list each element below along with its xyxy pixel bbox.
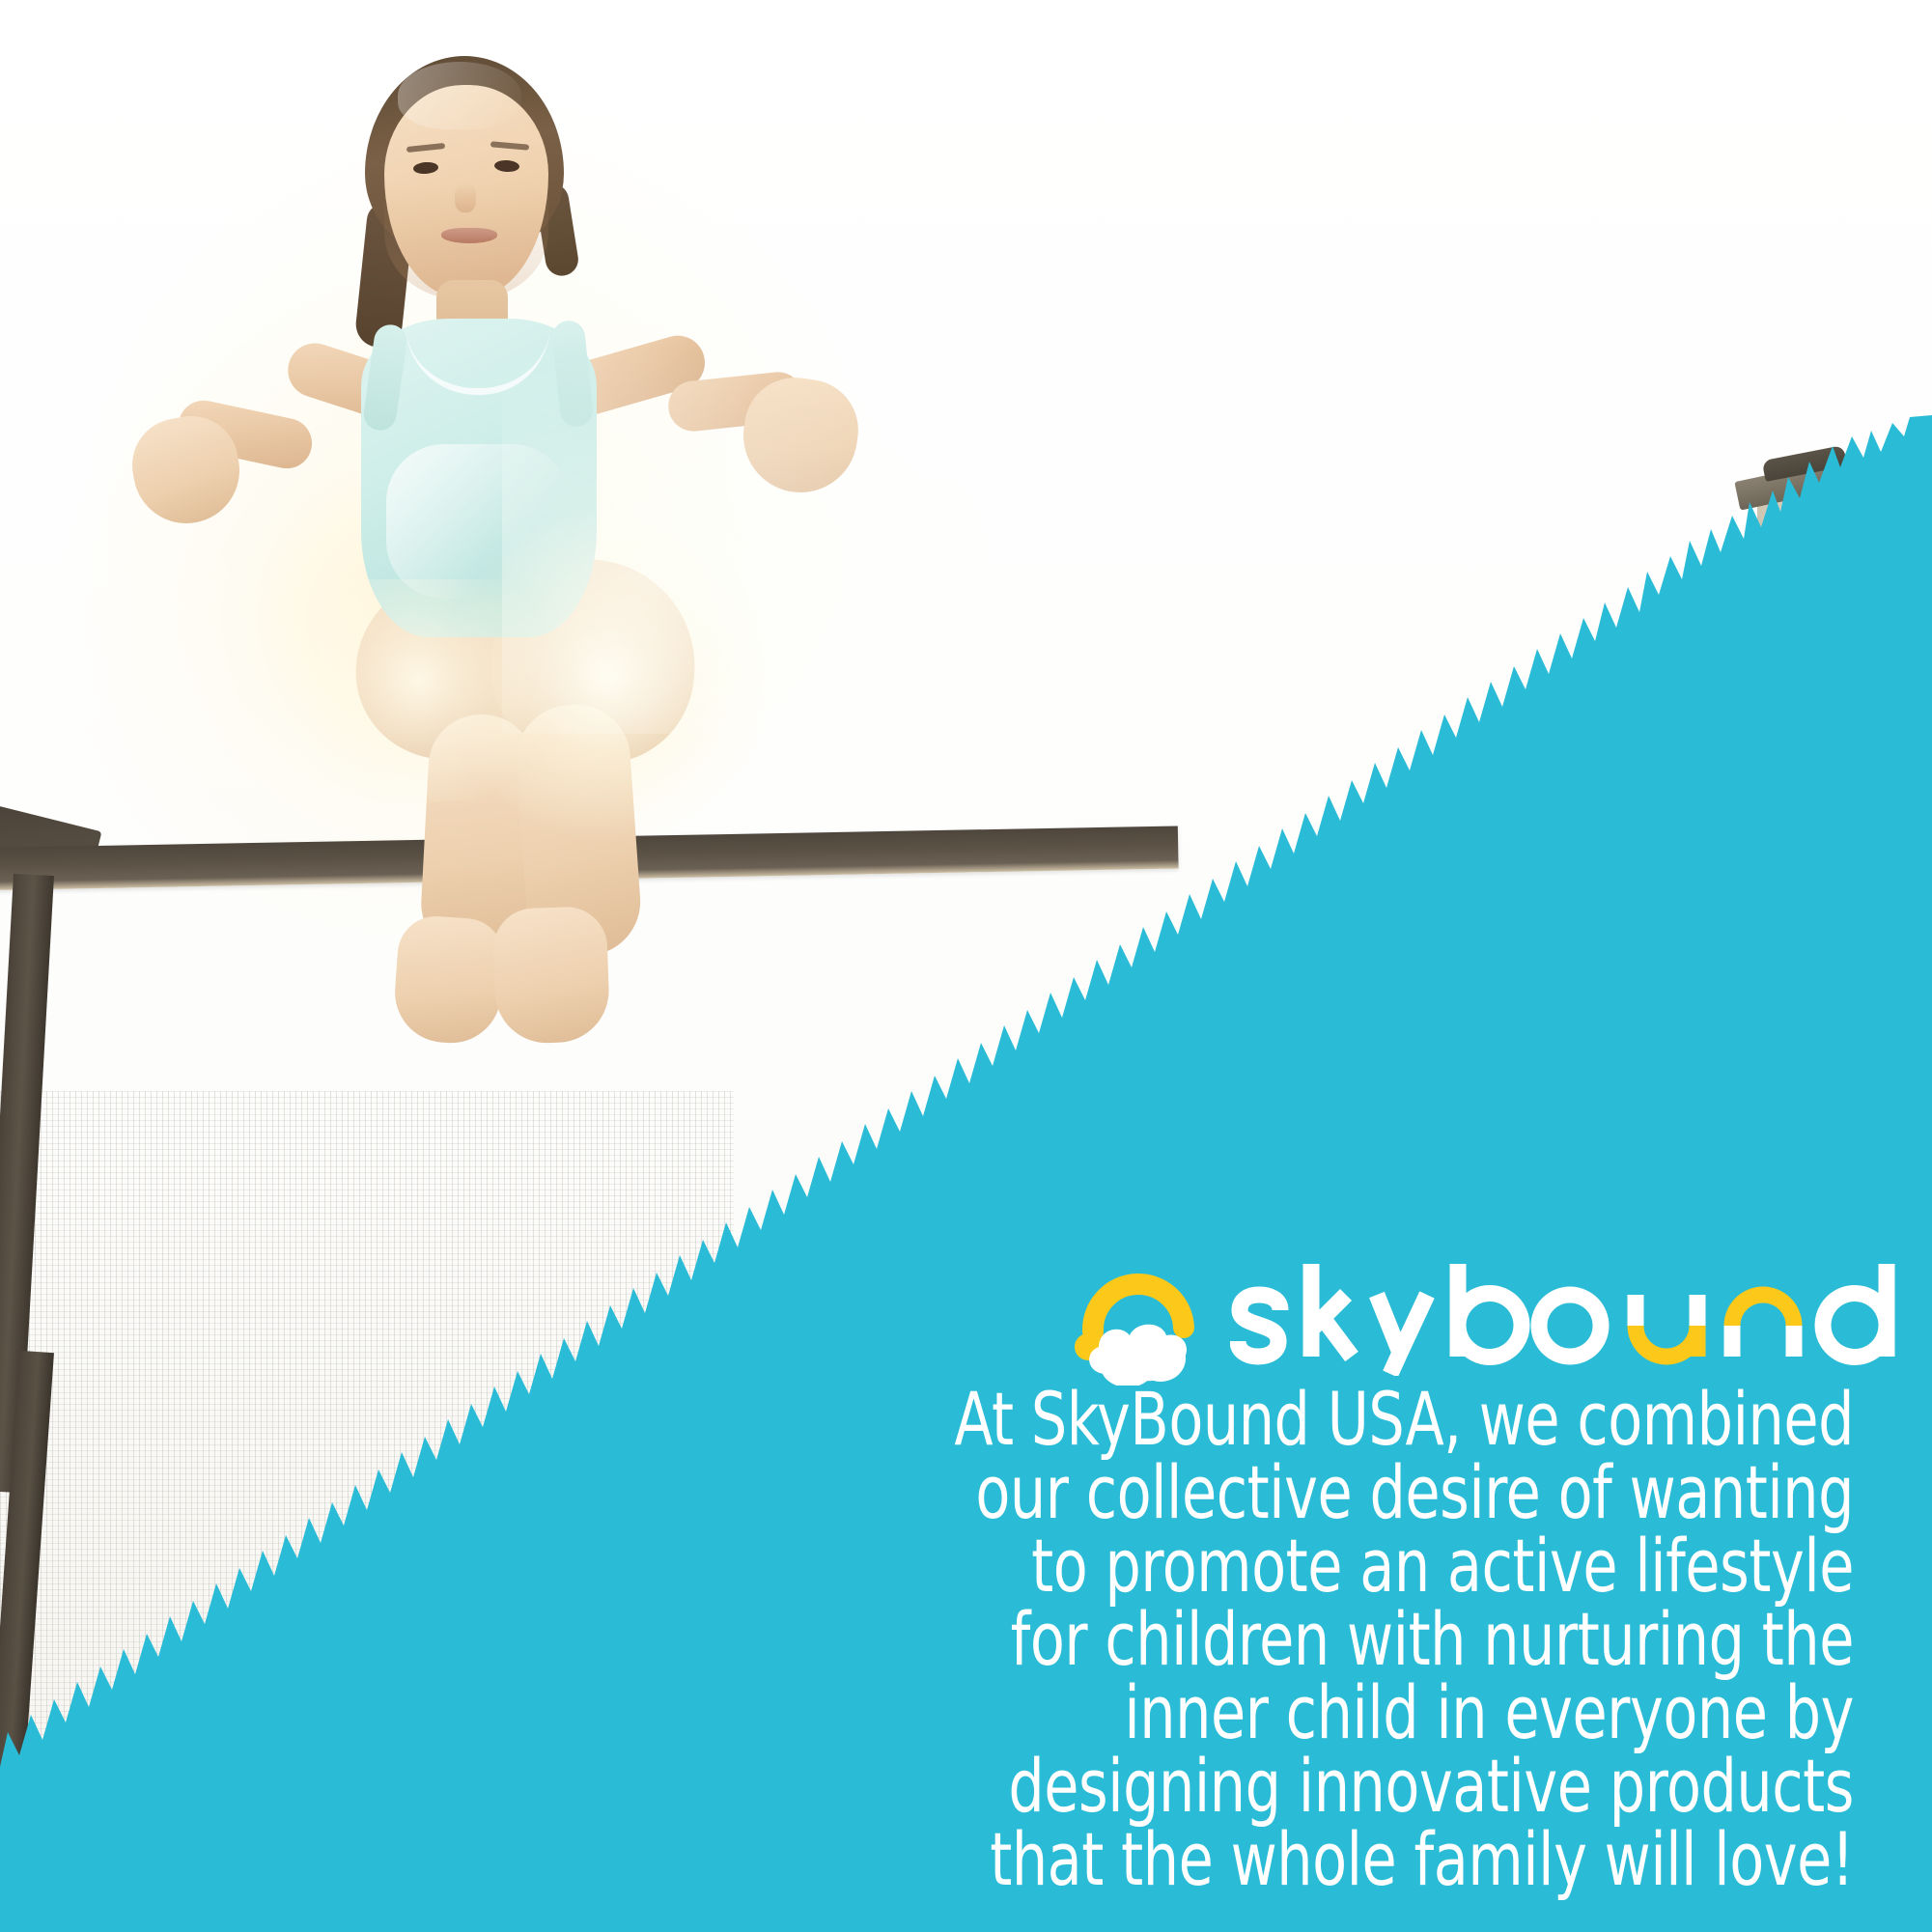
hair-highlight [398,62,521,129]
promo-card: At SkyBound USA, we combined our collect… [0,0,1932,1932]
brand-wordmark [1230,1260,1906,1376]
foot-left [392,913,507,1046]
chimney-far [1738,439,1863,584]
leotard-highlight [386,444,570,599]
tagline-text: At SkyBound USA, we combined our collect… [832,1383,1854,1896]
foot-right [492,906,611,1045]
brand-lockup [1072,1246,1902,1390]
chimney-near [1436,734,1552,927]
nose [455,183,476,212]
knee-glow [319,579,570,801]
sun-cloud-icon [1072,1250,1217,1386]
mouth [441,228,497,243]
girl-jumping [116,39,869,1081]
trampoline-net [0,1091,734,1932]
